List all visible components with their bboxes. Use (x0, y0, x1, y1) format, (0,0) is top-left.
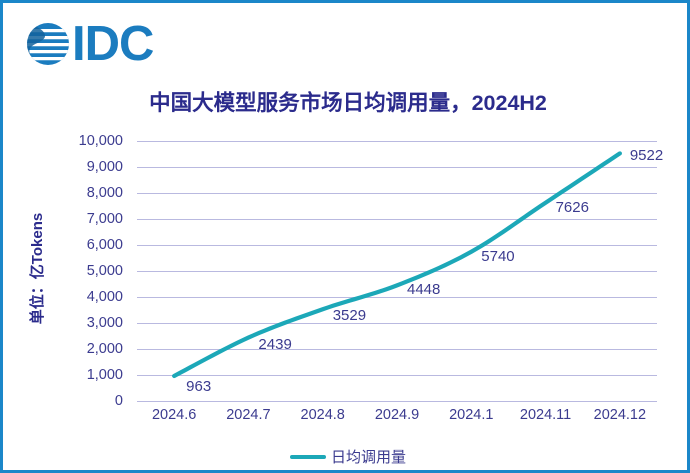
data-point-label: 5740 (481, 248, 514, 265)
data-point-label: 4448 (407, 281, 440, 298)
data-point-label: 7626 (556, 199, 589, 216)
chart-legend: 日均调用量 (3, 446, 690, 467)
y-tick-label: 6,000 (87, 237, 123, 253)
y-tick-label: 4,000 (87, 289, 123, 305)
globe-icon (25, 21, 71, 67)
x-tick-label: 2024.9 (375, 407, 419, 423)
y-axis-title: 单位：亿Tokens (25, 193, 49, 343)
plot-area: 10,0009,0008,0007,0006,0005,0004,0003,00… (63, 141, 663, 431)
x-tick-label: 2024.6 (152, 407, 196, 423)
y-axis-ticks: 10,0009,0008,0007,0006,0005,0004,0003,00… (63, 141, 129, 401)
y-tick-label: 3,000 (87, 315, 123, 331)
y-tick-label: 5,000 (87, 263, 123, 279)
line-series (137, 141, 657, 401)
y-tick-label: 10,000 (79, 133, 123, 149)
idc-logo: IDC (25, 19, 153, 69)
data-point-label: 2439 (258, 336, 291, 353)
gridline (137, 401, 657, 402)
data-point-label: 9522 (630, 147, 663, 164)
x-tick-label: 2024.8 (301, 407, 345, 423)
y-tick-label: 9,000 (87, 159, 123, 175)
y-tick-label: 7,000 (87, 211, 123, 227)
data-point-label: 3529 (333, 307, 366, 324)
x-axis-ticks: 2024.62024.72024.82024.92024.12024.11202… (137, 407, 657, 433)
x-tick-label: 2024.7 (226, 407, 270, 423)
y-tick-label: 8,000 (87, 185, 123, 201)
legend-swatch-line (290, 455, 326, 459)
y-tick-label: 0 (115, 393, 123, 409)
x-tick-label: 2024.11 (520, 407, 571, 423)
chart-title: 中国大模型服务市场日均调用量，2024H2 (3, 86, 690, 117)
legend-label: 日均调用量 (331, 446, 406, 467)
data-point-label: 963 (186, 378, 211, 395)
x-tick-label: 2024.1 (449, 407, 493, 423)
chart-page: IDC 中国大模型服务市场日均调用量，2024H2 单位：亿Tokens 10,… (0, 0, 690, 473)
logo-wordmark: IDC (72, 21, 153, 67)
y-tick-label: 2,000 (87, 341, 123, 357)
y-axis-title-label: 单位：亿Tokens (27, 212, 48, 323)
y-tick-label: 1,000 (87, 367, 123, 383)
x-tick-label: 2024.12 (594, 407, 646, 423)
